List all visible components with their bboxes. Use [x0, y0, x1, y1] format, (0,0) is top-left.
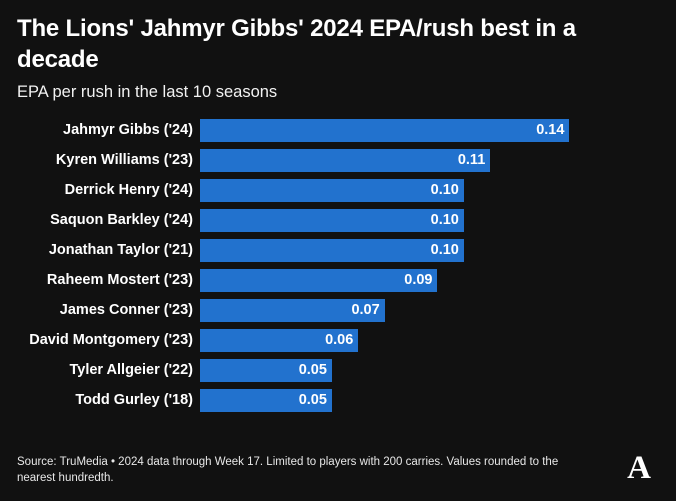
bar-category-label: Jonathan Taylor ('21) [0, 243, 200, 258]
bar-category-label: James Conner ('23) [0, 303, 200, 318]
bar-value-label: 0.14 [536, 123, 569, 138]
source-note: Source: TruMedia • 2024 data through Wee… [17, 454, 577, 487]
bar-track: 0.14 [200, 119, 676, 142]
page-title: The Lions' Jahmyr Gibbs' 2024 EPA/rush b… [17, 14, 642, 75]
chart-card: The Lions' Jahmyr Gibbs' 2024 EPA/rush b… [0, 0, 676, 501]
bar-value-label: 0.06 [325, 333, 358, 348]
bar-category-label: David Montgomery ('23) [0, 333, 200, 348]
bar-value-label: 0.07 [351, 303, 384, 318]
bar-category-label: Raheem Mostert ('23) [0, 273, 200, 288]
bar-track: 0.05 [200, 359, 676, 382]
bar-track: 0.05 [200, 389, 676, 412]
bar-row: Jahmyr Gibbs ('24)0.14 [0, 115, 676, 145]
bar-fill[interactable]: 0.05 [200, 389, 332, 412]
chart-subtitle: EPA per rush in the last 10 seasons [17, 82, 659, 103]
bar-fill[interactable]: 0.14 [200, 119, 569, 142]
bar-value-label: 0.10 [431, 243, 464, 258]
bar-track: 0.10 [200, 179, 676, 202]
bar-category-label: Saquon Barkley ('24) [0, 213, 200, 228]
bar-row: Saquon Barkley ('24)0.10 [0, 205, 676, 235]
bar-category-label: Tyler Allgeier ('22) [0, 363, 200, 378]
bar-category-label: Derrick Henry ('24) [0, 183, 200, 198]
bar-chart-plot: Jahmyr Gibbs ('24)0.14Kyren Williams ('2… [0, 115, 676, 425]
bar-track: 0.10 [200, 209, 676, 232]
bar-fill[interactable]: 0.11 [200, 149, 490, 172]
bar-value-label: 0.10 [431, 183, 464, 198]
athletic-logo-icon: A [627, 452, 659, 487]
chart-header: The Lions' Jahmyr Gibbs' 2024 EPA/rush b… [0, 0, 676, 103]
bar-value-label: 0.05 [299, 393, 332, 408]
bar-row: Tyler Allgeier ('22)0.05 [0, 355, 676, 385]
bar-fill[interactable]: 0.10 [200, 179, 464, 202]
bar-category-label: Jahmyr Gibbs ('24) [0, 123, 200, 138]
bar-category-label: Todd Gurley ('18) [0, 393, 200, 408]
chart-footer: Source: TruMedia • 2024 data through Wee… [17, 452, 659, 487]
bar-category-label: Kyren Williams ('23) [0, 153, 200, 168]
bar-row: Raheem Mostert ('23)0.09 [0, 265, 676, 295]
bar-fill[interactable]: 0.05 [200, 359, 332, 382]
bar-fill[interactable]: 0.10 [200, 239, 464, 262]
bar-track: 0.06 [200, 329, 676, 352]
bar-value-label: 0.09 [404, 273, 437, 288]
bar-row: Todd Gurley ('18)0.05 [0, 385, 676, 415]
bar-row: Kyren Williams ('23)0.11 [0, 145, 676, 175]
bar-track: 0.10 [200, 239, 676, 262]
bar-row: David Montgomery ('23)0.06 [0, 325, 676, 355]
bar-value-label: 0.05 [299, 363, 332, 378]
bar-value-label: 0.10 [431, 213, 464, 228]
bar-fill[interactable]: 0.07 [200, 299, 385, 322]
bar-fill[interactable]: 0.10 [200, 209, 464, 232]
bar-fill[interactable]: 0.06 [200, 329, 358, 352]
bar-track: 0.07 [200, 299, 676, 322]
bar-track: 0.09 [200, 269, 676, 292]
bar-track: 0.11 [200, 149, 676, 172]
bar-row: Jonathan Taylor ('21)0.10 [0, 235, 676, 265]
bar-value-label: 0.11 [458, 153, 490, 168]
bar-row: James Conner ('23)0.07 [0, 295, 676, 325]
bar-row: Derrick Henry ('24)0.10 [0, 175, 676, 205]
bar-fill[interactable]: 0.09 [200, 269, 437, 292]
